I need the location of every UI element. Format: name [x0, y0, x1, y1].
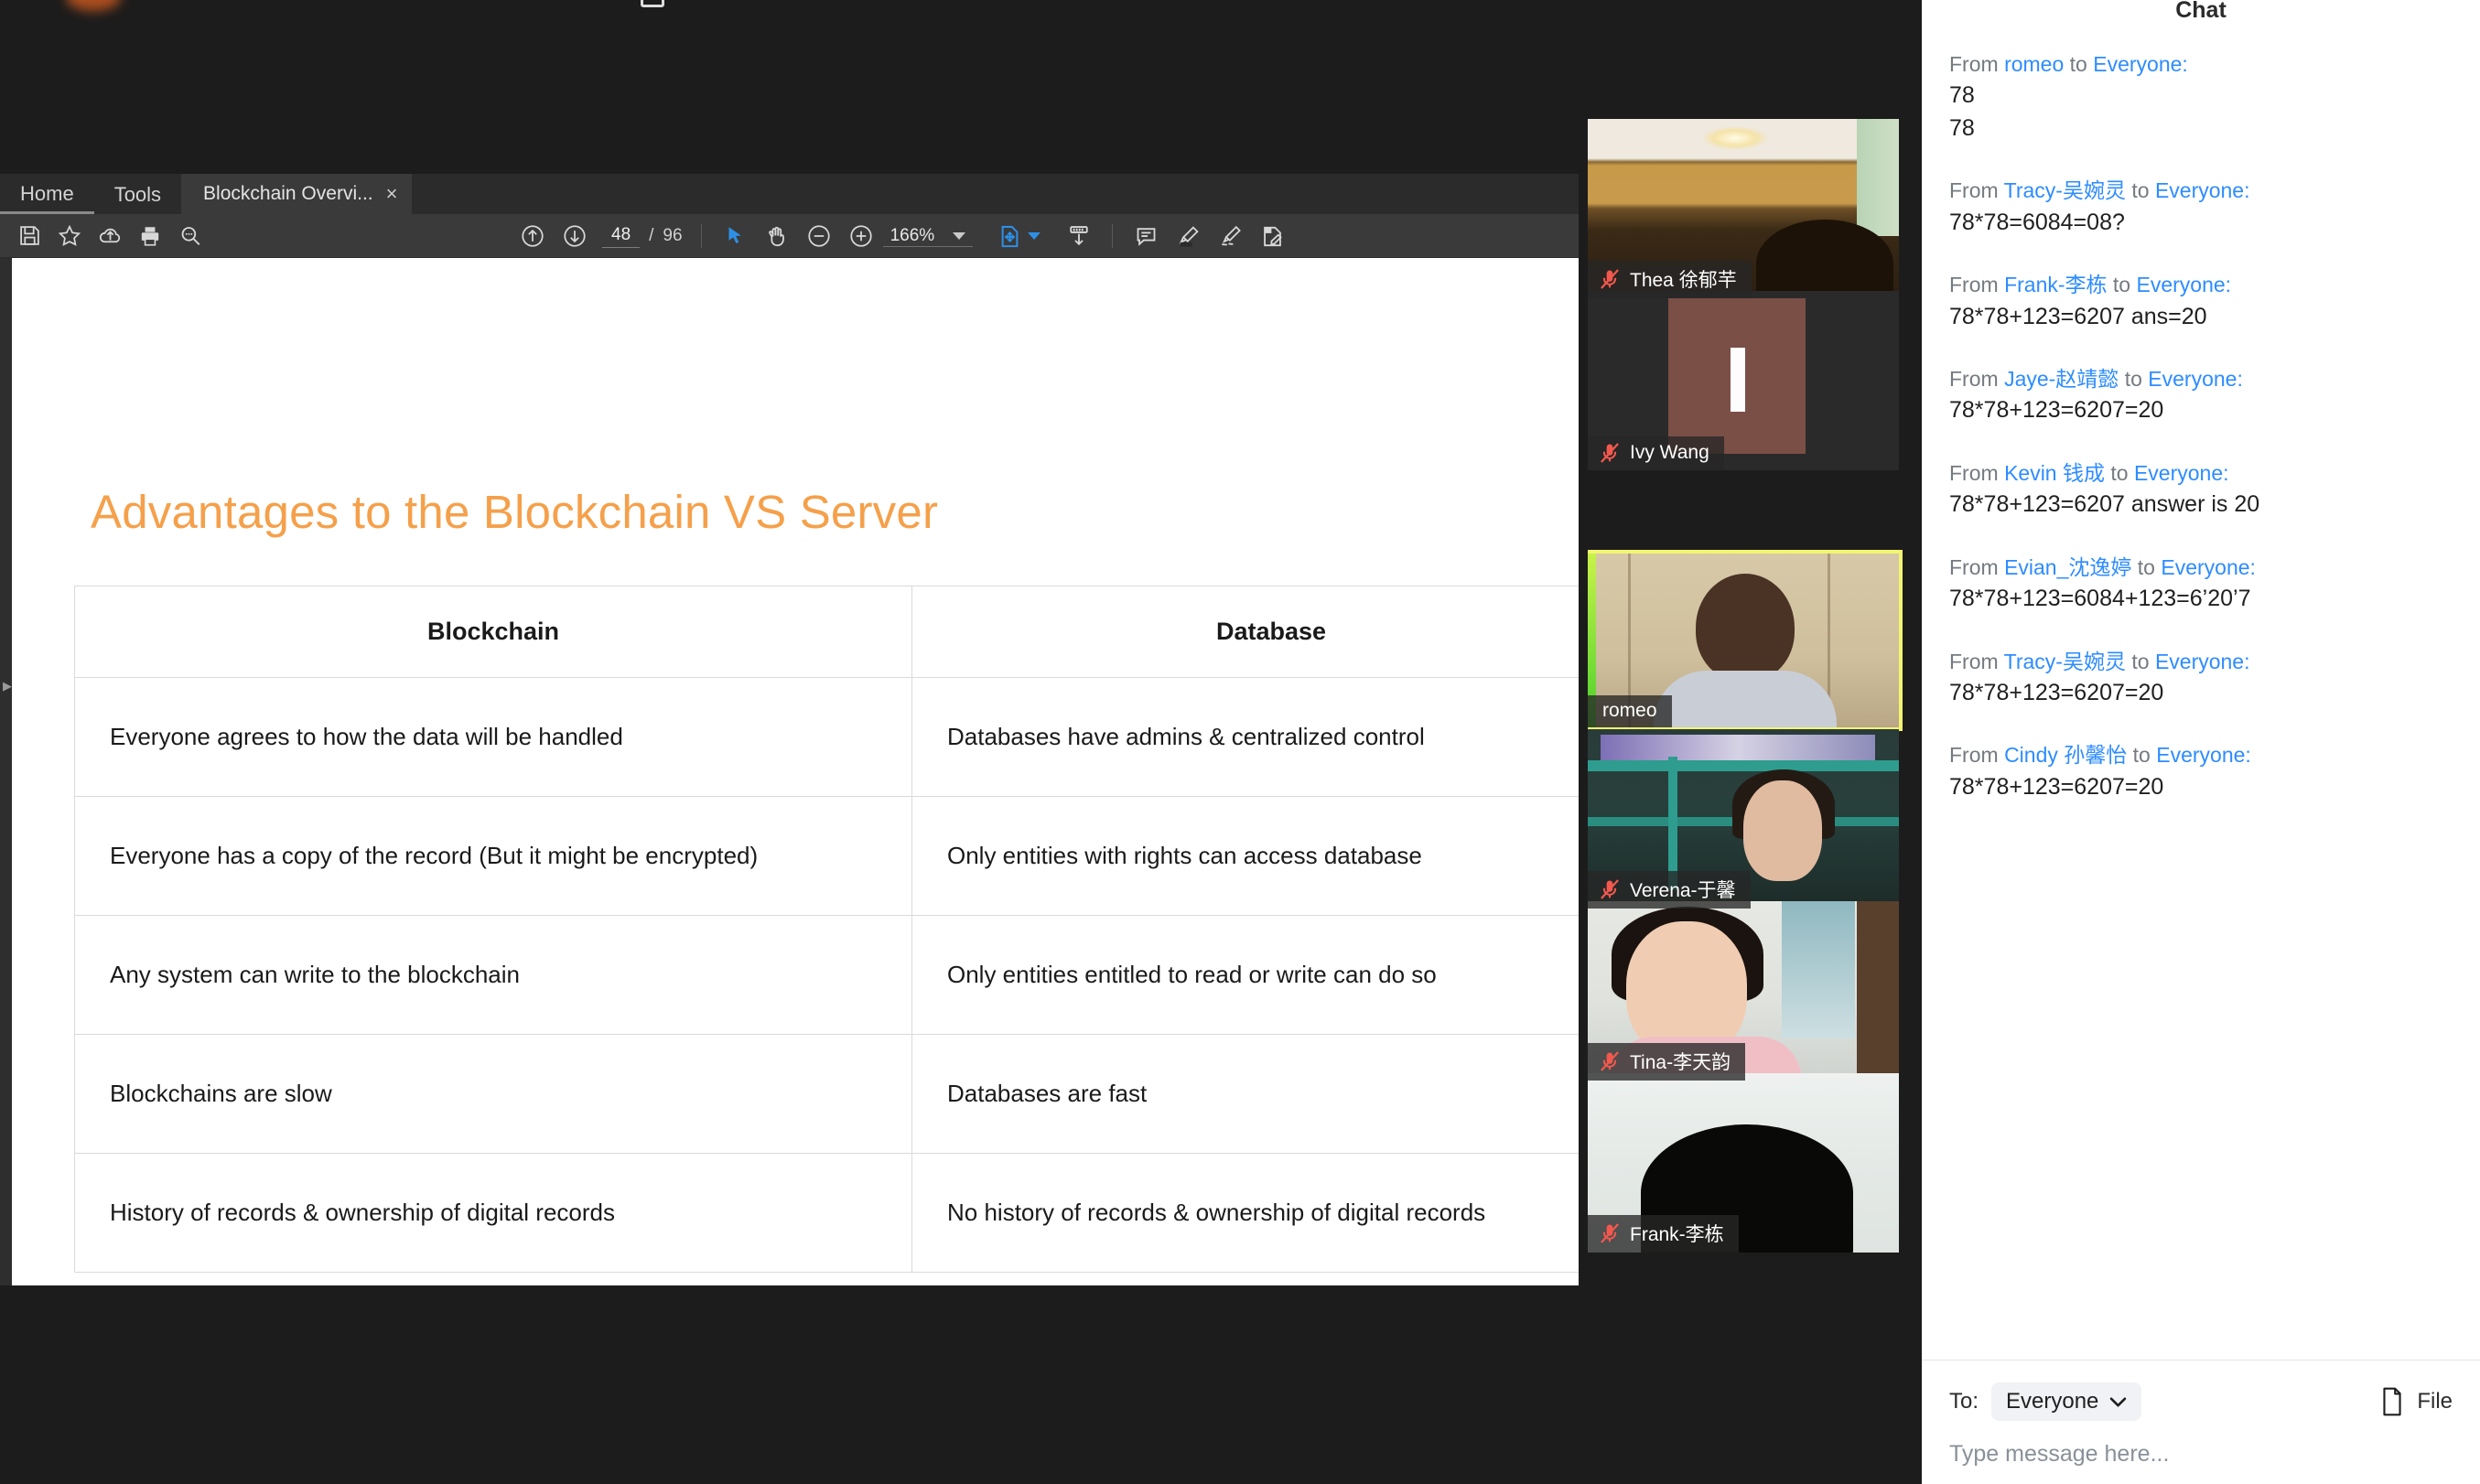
pdf-viewer-body: ▶ Advantages to the Blockchain VS Server…	[0, 258, 1579, 1285]
chat-message-header: From Frank-李栋 to Everyone:	[1949, 270, 2453, 300]
chat-recipient: Everyone:	[2093, 52, 2188, 76]
chat-from-prefix: From	[1949, 178, 1999, 202]
participant-label: Thea 徐郁芉	[1588, 261, 1752, 298]
chat-from-prefix: From	[1949, 367, 1999, 391]
pdf-toolbar: 48 / 96	[0, 214, 1579, 258]
table-header-row: Blockchain Database	[75, 586, 1580, 678]
pdf-page: Advantages to the Blockchain VS Server B…	[12, 258, 1579, 1285]
page-number-input[interactable]: 48	[602, 225, 640, 248]
chat-from-prefix: From	[1949, 555, 1999, 579]
next-page-icon[interactable]	[555, 218, 595, 254]
table-cell: Only entities with rights can access dat…	[912, 797, 1580, 916]
tab-bar-filler	[412, 174, 1579, 214]
mic-off-icon	[1598, 267, 1622, 291]
pdf-tab-bar: Home Tools Blockchain Overvi... ×	[0, 174, 1579, 214]
table-row: Any system can write to the blockchain O…	[75, 916, 1580, 1035]
chat-mid: to	[2131, 178, 2149, 202]
tools-menu[interactable]: Tools	[94, 176, 181, 214]
chat-message-header: From Kevin 钱成 to Everyone:	[1949, 458, 2453, 489]
chat-recipient: Everyone:	[2161, 555, 2256, 579]
fit-page-icon[interactable]	[989, 218, 1030, 254]
highlight-icon[interactable]	[1168, 218, 1208, 254]
chat-recipient-select[interactable]: Everyone	[1991, 1382, 2141, 1421]
home-menu[interactable]: Home	[0, 176, 94, 214]
fit-page-chevron-icon[interactable]	[1028, 232, 1041, 240]
chat-message-body: 78*78+123=6207 answer is 20	[1949, 489, 2453, 522]
table-cell: Only entities entitled to read or write …	[912, 916, 1580, 1035]
hand-tool-icon[interactable]	[757, 218, 797, 254]
zoom-level-value: 166%	[890, 226, 935, 246]
chat-message: From Cindy 孙馨怡 to Everyone: 78*78+123=62…	[1949, 740, 2453, 803]
column-header-database: Database	[912, 586, 1580, 678]
chat-mid: to	[2133, 743, 2151, 767]
cloud-upload-icon[interactable]	[90, 218, 130, 254]
video-tile-thea[interactable]: Thea 徐郁芉	[1588, 119, 1899, 298]
participant-label: romeo	[1588, 695, 1672, 727]
slide-title: Advantages to the Blockchain VS Server	[91, 485, 938, 539]
chat-message-header: From Tracy-吴婉灵 to Everyone:	[1949, 647, 2453, 677]
video-tile-tina[interactable]: Tina-李天韵	[1588, 901, 1899, 1081]
previous-page-icon[interactable]	[512, 218, 553, 254]
participant-name: Tina-李天韵	[1630, 1048, 1731, 1075]
chat-from-prefix: From	[1949, 52, 1999, 76]
star-icon[interactable]	[49, 218, 90, 254]
chat-mid: to	[2110, 461, 2128, 485]
mic-off-icon	[1598, 441, 1622, 465]
save-icon[interactable]	[9, 218, 49, 254]
participant-label: Frank-李栋	[1588, 1215, 1739, 1253]
chat-file-label: File	[2417, 1389, 2453, 1414]
chat-message: From Frank-李栋 to Everyone: 78*78+123=620…	[1949, 270, 2453, 333]
participant-label: Tina-李天韵	[1588, 1043, 1745, 1081]
video-tile-ivy-wang[interactable]: Ivy Wang	[1588, 291, 1899, 470]
chat-message-header: From Jaye-赵靖懿 to Everyone:	[1949, 364, 2453, 394]
chat-to-label: To:	[1949, 1389, 1979, 1414]
chat-recipient-row: To: Everyone File	[1949, 1382, 2453, 1421]
chat-message-body: 78*78+123=6207=20	[1949, 394, 2453, 427]
table-row: History of records & ownership of digita…	[75, 1154, 1580, 1273]
chat-message-input[interactable]: Type message here...	[1949, 1441, 2453, 1468]
sidebar-expand-icon[interactable]: ▶	[3, 679, 12, 694]
table-cell: History of records & ownership of digita…	[75, 1154, 912, 1273]
table-cell: Databases are fast	[912, 1035, 1580, 1154]
chat-footer: To: Everyone File Type message here...	[1922, 1360, 2480, 1484]
table-cell: Any system can write to the blockchain	[75, 916, 912, 1035]
chat-message: From Tracy-吴婉灵 to Everyone: 78*78=6084=0…	[1949, 176, 2453, 239]
chat-recipient: Everyone:	[2155, 178, 2250, 202]
table-cell: Blockchains are slow	[75, 1035, 912, 1154]
chat-recipient: Everyone:	[2134, 461, 2229, 485]
close-icon[interactable]: ×	[386, 184, 398, 204]
chat-panel-title: Chat	[1922, 0, 2480, 24]
chat-message-body: 78*78+123=6207=20	[1949, 771, 2453, 804]
chat-panel: Chat From romeo to Everyone: 78 78 From …	[1922, 0, 2480, 1484]
pdf-page-scroll-area[interactable]: Advantages to the Blockchain VS Server B…	[12, 258, 1579, 1285]
chat-recipient: Everyone:	[2136, 273, 2231, 296]
participant-name: Frank-李栋	[1630, 1220, 1724, 1247]
table-cell: Databases have admins & centralized cont…	[912, 678, 1580, 797]
chat-message-header: From Evian_沈逸婷 to Everyone:	[1949, 553, 2453, 583]
file-icon	[2380, 1387, 2404, 1416]
chevron-down-icon	[2109, 1396, 2127, 1408]
mic-off-icon	[1598, 1049, 1622, 1073]
chat-mid: to	[2125, 367, 2142, 391]
pdf-reader-window: Home Tools Blockchain Overvi... ×	[0, 174, 1579, 1285]
toolbar-divider	[701, 224, 702, 248]
chat-from-prefix: From	[1949, 650, 1999, 673]
zoom-out-icon[interactable]	[799, 218, 839, 254]
chat-from-prefix: From	[1949, 461, 1999, 485]
chat-message: From Kevin 钱成 to Everyone: 78*78+123=620…	[1949, 458, 2453, 522]
screen: Home Tools Blockchain Overvi... ×	[0, 0, 2480, 1484]
chat-message-body: 78 78	[1949, 80, 2453, 145]
chat-message: From Jaye-赵靖懿 to Everyone: 78*78+123=620…	[1949, 364, 2453, 427]
chat-file-button[interactable]: File	[2380, 1387, 2453, 1416]
participant-name: Thea 徐郁芉	[1630, 265, 1737, 293]
taskbar-window-icon	[641, 0, 664, 7]
chat-from-prefix: From	[1949, 743, 1999, 767]
mic-off-icon	[1598, 1221, 1622, 1245]
chat-sender[interactable]: Tracy-吴婉灵	[2004, 650, 2126, 673]
mic-off-icon	[1598, 877, 1622, 901]
column-header-blockchain: Blockchain	[75, 586, 912, 678]
chat-sender[interactable]: Cindy 孙馨怡	[2004, 743, 2127, 767]
home-menu-label: Home	[20, 182, 74, 206]
chat-message-body: 78*78+123=6207 ans=20	[1949, 301, 2453, 334]
chat-mid: to	[2113, 273, 2130, 296]
table-row: Blockchains are slow Databases are fast	[75, 1035, 1580, 1154]
chat-mid: to	[2070, 52, 2087, 76]
chat-mid: to	[2131, 650, 2149, 673]
chat-mid: to	[2138, 555, 2155, 579]
chat-message-header: From romeo to Everyone:	[1949, 49, 2453, 80]
print-icon[interactable]	[130, 218, 170, 254]
chat-from-prefix: From	[1949, 273, 1999, 296]
participant-name: Ivy Wang	[1630, 442, 1709, 464]
participant-name: Verena-于馨	[1630, 876, 1736, 903]
chat-recipient-value: Everyone	[2006, 1389, 2098, 1414]
table-cell: No history of records & ownership of dig…	[912, 1154, 1580, 1273]
table-row: Everyone agrees to how the data will be …	[75, 678, 1580, 797]
comment-icon[interactable]	[1126, 218, 1166, 254]
toolbar-divider-2	[1112, 224, 1113, 248]
page-display-icon[interactable]	[1059, 218, 1099, 254]
select-tool-icon[interactable]	[715, 218, 755, 254]
chat-message-body: 78*78+123=6084+123=6’20’7	[1949, 583, 2453, 616]
table-row: Everyone has a copy of the record (But i…	[75, 797, 1580, 916]
chat-sender[interactable]: Jaye-赵靖懿	[2004, 367, 2119, 391]
chat-recipient: Everyone:	[2156, 743, 2251, 767]
participant-label: Ivy Wang	[1588, 436, 1724, 470]
table-cell: Everyone agrees to how the data will be …	[75, 678, 912, 797]
chat-message: From Tracy-吴婉灵 to Everyone: 78*78+123=62…	[1949, 647, 2453, 710]
zoom-in-icon[interactable]	[841, 218, 881, 254]
document-tab-title: Blockchain Overvi...	[203, 183, 373, 205]
chat-sender[interactable]: Frank-李栋	[2004, 273, 2107, 296]
chat-sender[interactable]: Evian_沈逸婷	[2004, 555, 2131, 579]
page-navigation: 48 / 96	[597, 225, 688, 248]
chat-message: From romeo to Everyone: 78 78	[1949, 49, 2453, 145]
chat-sender[interactable]: romeo	[2004, 52, 2064, 76]
chat-recipient: Everyone:	[2155, 650, 2250, 673]
taskbar-orange-indicator	[66, 0, 121, 11]
chat-message-header: From Tracy-吴婉灵 to Everyone:	[1949, 176, 2453, 206]
participant-label: Verena-于馨	[1588, 871, 1751, 909]
chat-message: From Evian_沈逸婷 to Everyone: 78*78+123=60…	[1949, 553, 2453, 616]
chat-message-body: 78*78=6084=08?	[1949, 207, 2453, 240]
chat-message-list[interactable]: From romeo to Everyone: 78 78 From Tracy…	[1922, 24, 2480, 1360]
page-separator: /	[649, 226, 653, 248]
video-tile-frank[interactable]: Frank-李栋	[1588, 1073, 1899, 1253]
chat-message-body: 78*78+123=6207=20	[1949, 677, 2453, 710]
chevron-down-icon[interactable]	[953, 232, 965, 240]
participant-name: romeo	[1602, 700, 1657, 722]
pdf-sidebar-rail[interactable]: ▶	[0, 258, 12, 1285]
chat-recipient: Everyone:	[2148, 367, 2243, 391]
table-cell: Everyone has a copy of the record (But i…	[75, 797, 912, 916]
search-icon[interactable]	[170, 218, 210, 254]
comparison-table: Blockchain Database Everyone agrees to h…	[74, 586, 1579, 1273]
page-total: 96	[663, 226, 682, 248]
chat-message-header: From Cindy 孙馨怡 to Everyone:	[1949, 740, 2453, 770]
video-strip: Thea 徐郁芉 Ivy Wang	[1588, 0, 1917, 1484]
zoom-level-control[interactable]: 166%	[883, 226, 974, 247]
video-tile-romeo[interactable]: romeo	[1588, 554, 1899, 727]
chat-sender[interactable]: Kevin 钱成	[2004, 461, 2105, 485]
tools-menu-label: Tools	[114, 183, 161, 207]
video-tile-verena[interactable]: Verena-于馨	[1588, 729, 1899, 909]
document-tab[interactable]: Blockchain Overvi... ×	[181, 174, 412, 214]
signature-icon[interactable]	[1210, 218, 1250, 254]
chat-sender[interactable]: Tracy-吴婉灵	[2004, 178, 2126, 202]
fill-and-sign-icon[interactable]	[1252, 218, 1292, 254]
